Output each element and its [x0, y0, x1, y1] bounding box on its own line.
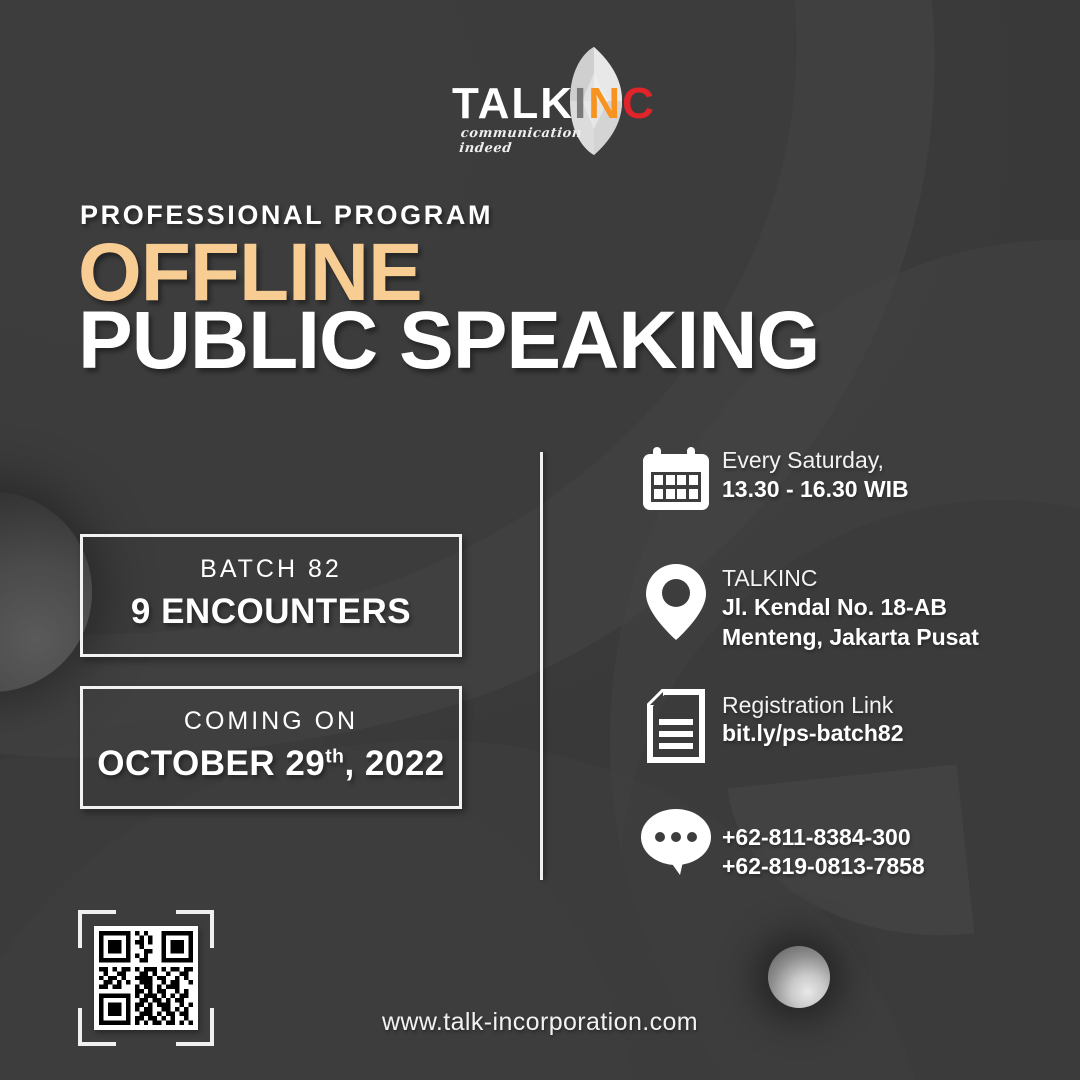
date-info-box: COMING ON OCTOBER 29th, 2022: [80, 686, 462, 809]
detail-text-venue: TALKINC Jl. Kendal No. 18-AB Menteng, Ja…: [722, 560, 979, 653]
detail-row-registration[interactable]: Registration Link bit.ly/ps-batch82: [630, 687, 1050, 771]
poster-canvas: TALKINC communication indeed PROFESSIONA…: [0, 0, 1080, 1080]
date-value-prefix: OCTOBER 29: [97, 744, 325, 783]
website-url[interactable]: www.talk-incorporation.com: [0, 1008, 1080, 1037]
brand-logo: TALKINC communication indeed: [452, 52, 632, 152]
schedule-day: Every Saturday,: [722, 446, 909, 475]
date-label: COMING ON: [93, 707, 449, 736]
logo-tagline: communication indeed: [458, 126, 633, 156]
date-value-suffix: , 2022: [344, 744, 444, 783]
logo-wordmark: TALKINC: [452, 82, 656, 126]
headline-line-2: PUBLIC SPEAKING: [78, 300, 819, 382]
logo-i-text: I: [574, 79, 588, 128]
venue-name: TALKINC: [722, 564, 979, 593]
date-value: OCTOBER 29th, 2022: [93, 744, 449, 784]
document-icon: [630, 687, 722, 763]
batch-label: BATCH 82: [93, 555, 449, 584]
batch-info-box: BATCH 82 9 ENCOUNTERS: [80, 534, 462, 657]
venue-city: Menteng, Jakarta Pusat: [722, 623, 979, 653]
detail-text-registration: Registration Link bit.ly/ps-batch82: [722, 687, 903, 750]
detail-row-venue: TALKINC Jl. Kendal No. 18-AB Menteng, Ja…: [630, 560, 1050, 653]
logo-talk-text: TALK: [452, 79, 574, 128]
phone-number-2: +62-819-0813-7858: [722, 852, 925, 882]
details-list: Every Saturday, 13.30 - 16.30 WIB TALKIN…: [630, 442, 1050, 923]
venue-street: Jl. Kendal No. 18-AB: [722, 593, 979, 623]
schedule-time: 13.30 - 16.30 WIB: [722, 475, 909, 505]
detail-row-contact: +62-811-8384-300 +62-819-0813-7858: [630, 805, 1050, 889]
phone-number-1: +62-811-8384-300: [722, 823, 925, 853]
vertical-divider: [540, 452, 543, 880]
detail-text-contact: +62-811-8384-300 +62-819-0813-7858: [722, 805, 925, 883]
detail-text-schedule: Every Saturday, 13.30 - 16.30 WIB: [722, 442, 909, 505]
registration-link[interactable]: bit.ly/ps-batch82: [722, 719, 903, 749]
batch-value: 9 ENCOUNTERS: [93, 592, 449, 632]
decorative-sphere-right: [768, 946, 830, 1008]
logo-n-text: N: [588, 79, 622, 128]
date-value-ordinal: th: [325, 746, 344, 767]
location-pin-icon: [630, 560, 722, 642]
calendar-icon: [630, 442, 722, 512]
detail-row-schedule: Every Saturday, 13.30 - 16.30 WIB: [630, 442, 1050, 526]
registration-label: Registration Link: [722, 691, 903, 720]
chat-bubble-icon: [630, 805, 722, 877]
logo-c-text: C: [622, 79, 656, 128]
